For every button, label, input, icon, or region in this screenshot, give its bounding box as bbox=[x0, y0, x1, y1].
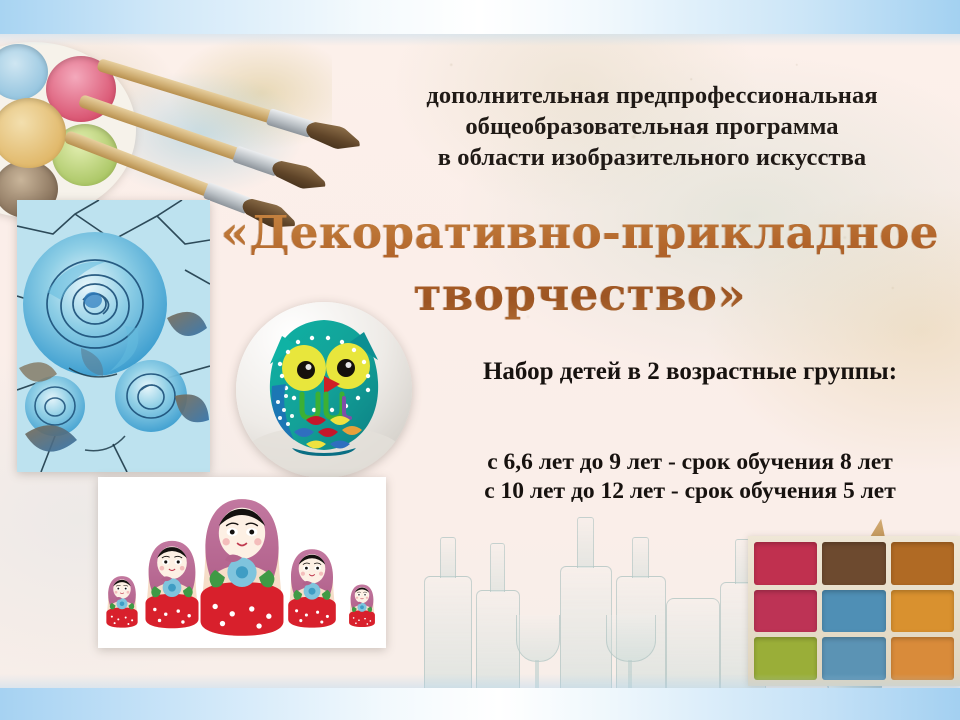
watercolor-pan-set bbox=[748, 536, 960, 686]
age-group-list: с 6,6 лет до 9 лет - срок обучения 8 лет… bbox=[420, 448, 960, 506]
pan-brown bbox=[822, 542, 885, 585]
matryoshka-illustration bbox=[98, 477, 386, 648]
age-group-1: с 6,6 лет до 9 лет - срок обучения 8 лет bbox=[420, 448, 960, 477]
bottle-1-neck bbox=[440, 537, 456, 578]
title-line-2: творчество» bbox=[200, 264, 960, 326]
program-header: дополнительная предпрофессиональная обще… bbox=[352, 80, 952, 173]
paint-well-blue bbox=[0, 44, 48, 100]
owl-figurine-illustration bbox=[236, 302, 412, 478]
photo-matryoshka-dolls bbox=[98, 477, 386, 648]
bottle-4-neck bbox=[632, 537, 649, 578]
pan-blue bbox=[822, 590, 885, 633]
bottle-2-neck bbox=[490, 543, 505, 592]
pan-rose bbox=[754, 590, 817, 633]
glass-bottles-still-life bbox=[420, 516, 780, 696]
photo-painted-owl-figurine bbox=[236, 302, 412, 478]
pan-amber bbox=[891, 590, 954, 633]
header-line-2: общеобразовательная программа bbox=[352, 111, 952, 142]
goblet-bowl bbox=[606, 615, 656, 662]
goblet-bowl bbox=[516, 615, 560, 662]
top-blue-band bbox=[0, 0, 960, 34]
pan-ochre bbox=[891, 542, 954, 585]
pan-crimson bbox=[754, 542, 817, 585]
header-line-1: дополнительная предпрофессиональная bbox=[352, 80, 952, 111]
enrollment-subheading: Набор детей в 2 возрастные группы: bbox=[420, 358, 960, 386]
header-line-3: в области изобразительного искусства bbox=[352, 142, 952, 173]
bottom-blue-band bbox=[0, 688, 960, 720]
blue-rose-illustration bbox=[17, 200, 210, 472]
bottle-3-neck bbox=[577, 517, 594, 568]
program-title: «Декоративно-прикладное творчество» bbox=[200, 202, 960, 326]
poster-canvas: дополнительная предпрофессиональная обще… bbox=[0, 0, 960, 720]
photo-blue-rose-painting bbox=[17, 200, 210, 472]
age-group-2: с 10 лет до 12 лет - срок обучения 5 лет bbox=[420, 477, 960, 506]
title-line-1: «Декоративно-прикладное bbox=[200, 202, 960, 264]
